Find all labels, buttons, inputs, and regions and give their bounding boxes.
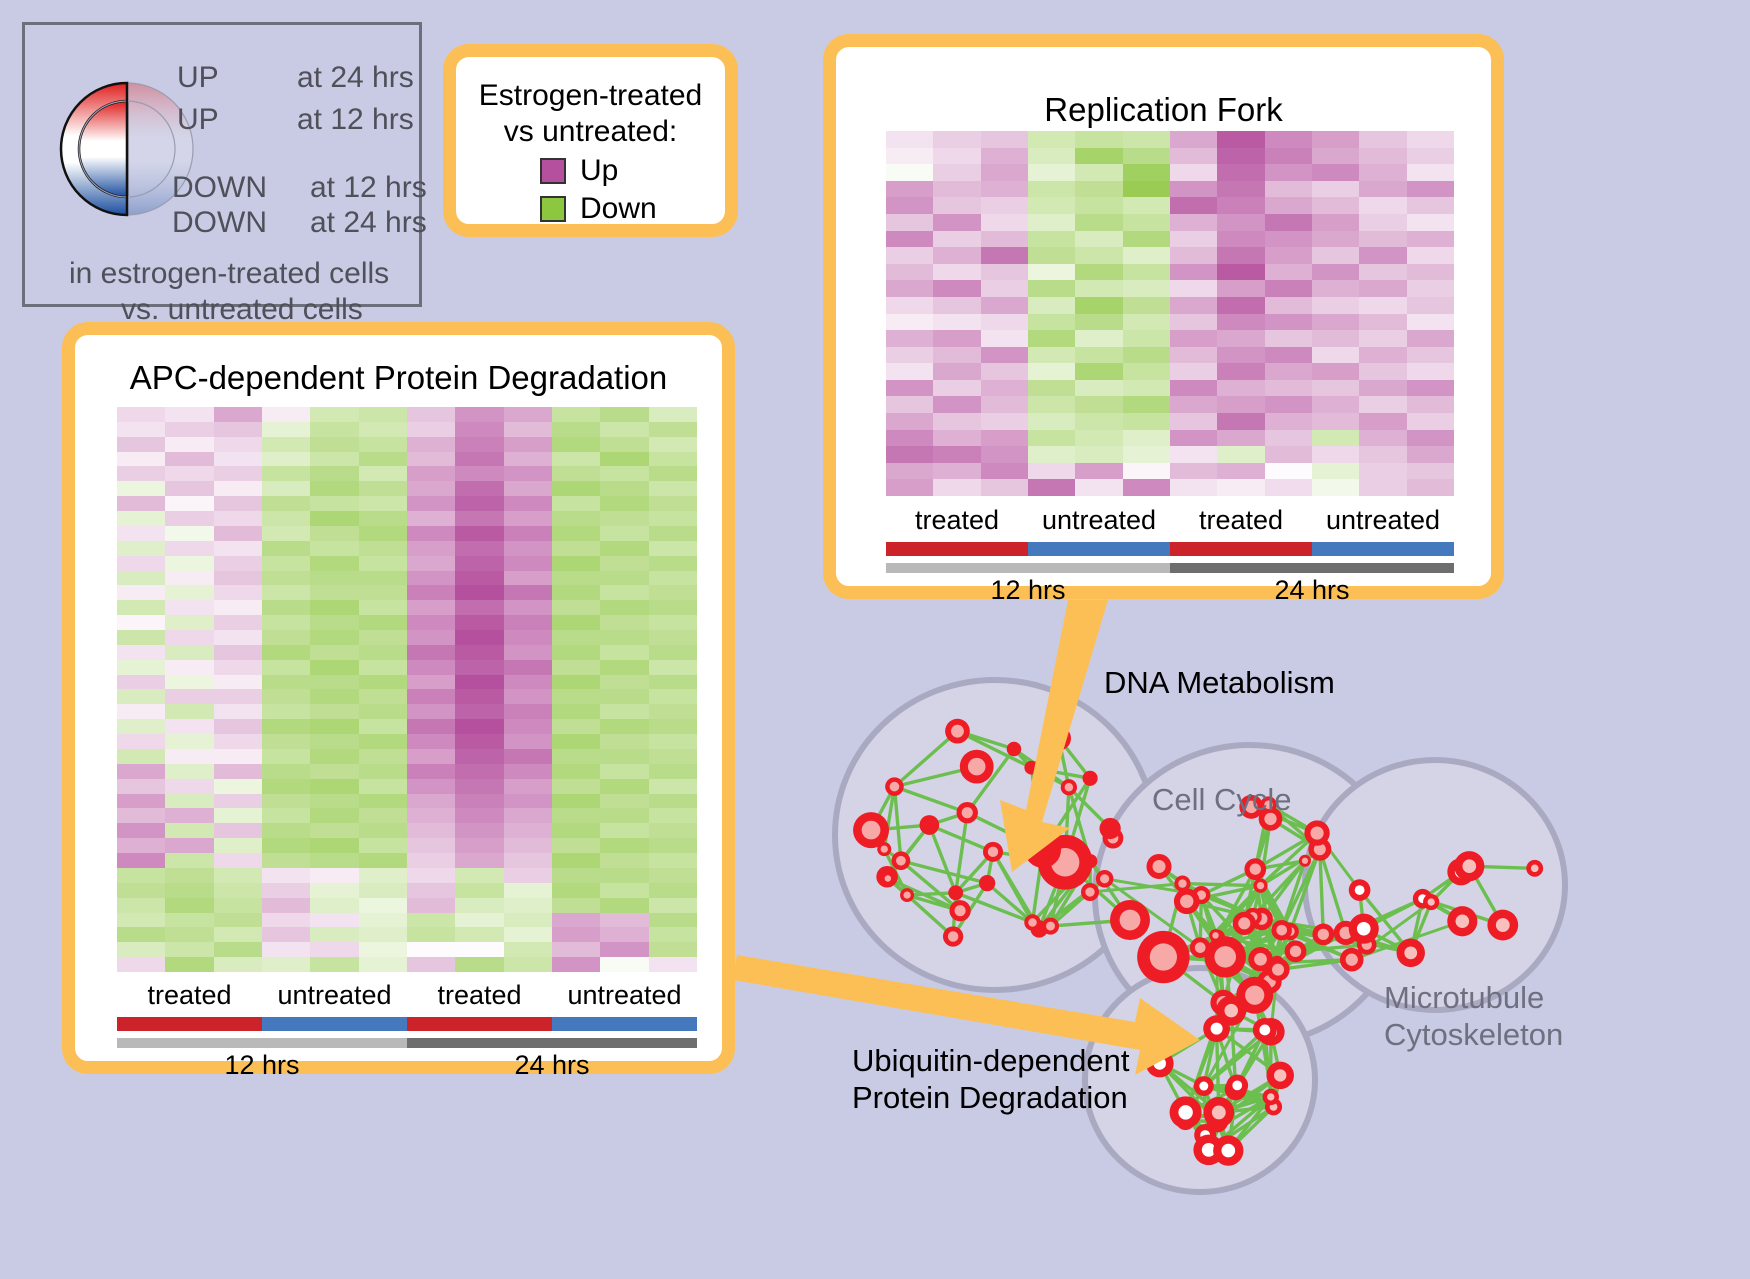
heatmap-cell (262, 749, 310, 764)
heatmap-cell (165, 630, 213, 645)
node-inner-core (968, 758, 986, 776)
rf-col-label: untreated (1028, 505, 1170, 536)
heatmap-cell (359, 749, 407, 764)
heatmap-cell (1359, 446, 1406, 463)
heatmap-cell (649, 794, 697, 809)
heatmap-cell (1217, 264, 1264, 281)
heatmap-cell (165, 808, 213, 823)
heatmap-cell (649, 734, 697, 749)
network-node[interactable] (945, 719, 970, 744)
heatmap-cell (600, 704, 648, 719)
heatmap-cell (455, 556, 503, 571)
network-node[interactable] (1244, 858, 1266, 880)
heatmap-cell (886, 164, 933, 181)
heatmap-cell (214, 407, 262, 422)
node-inner-core (988, 847, 998, 857)
network-node[interactable] (892, 851, 911, 870)
heatmap-cell (310, 779, 358, 794)
label-microtubule: Microtubule (1384, 980, 1544, 1016)
heatmap-cell (1028, 181, 1075, 198)
node-inner-core (1065, 783, 1073, 791)
network-node[interactable] (1253, 879, 1267, 893)
heatmap-cell (649, 615, 697, 630)
heatmap-cell (455, 511, 503, 526)
network-node[interactable] (1526, 860, 1543, 877)
network-node[interactable] (1267, 958, 1290, 981)
node-inner-core (1462, 859, 1476, 873)
time-24-bar-segment (407, 1038, 697, 1048)
heatmap-cell (1123, 347, 1170, 364)
network-node[interactable] (1304, 820, 1329, 845)
untreated-bar-segment (262, 1017, 407, 1031)
heatmap-cell (504, 630, 552, 645)
heatmap-cell (359, 868, 407, 883)
heatmap-cell (1170, 247, 1217, 264)
network-node[interactable] (1046, 726, 1071, 751)
heatmap-cell (455, 719, 503, 734)
heatmap-cell (310, 689, 358, 704)
heatmap-cell (359, 898, 407, 913)
heatmap-cell (117, 452, 165, 467)
heatmap-cell (407, 466, 455, 481)
network-node[interactable] (1024, 914, 1040, 930)
heatmap-cell (1170, 430, 1217, 447)
heatmap-cell (649, 541, 697, 556)
network-node[interactable] (960, 750, 994, 784)
heatmap-cell (214, 541, 262, 556)
node-inner-core (962, 807, 973, 818)
heatmap-cell (455, 571, 503, 586)
heatmap-cell (1028, 413, 1075, 430)
heatmap-cell (117, 764, 165, 779)
heatmap-cell (886, 380, 933, 397)
heatmap-cell (359, 823, 407, 838)
node-inner-core (1211, 1023, 1223, 1035)
heatmap-cell (886, 181, 933, 198)
key-subtitle-line1: in estrogen-treated cells (69, 257, 389, 291)
heatmap-cell (886, 297, 933, 314)
network-node[interactable] (1423, 894, 1439, 910)
heatmap-cell (407, 883, 455, 898)
network-node[interactable] (1110, 900, 1150, 940)
heatmap-cell (649, 675, 697, 690)
heatmap-cell (310, 883, 358, 898)
heatmap-cell (407, 734, 455, 749)
network-node[interactable] (979, 875, 995, 891)
heatmap-cell (600, 452, 648, 467)
heatmap-cell (117, 526, 165, 541)
heatmap-cell (504, 808, 552, 823)
cluster-microtubule (1305, 760, 1565, 1010)
heatmap-cell (310, 511, 358, 526)
heatmap-cell (359, 942, 407, 957)
heatmap-cell (310, 704, 358, 719)
heatmap-cell (1028, 380, 1075, 397)
heatmap-cell (552, 898, 600, 913)
heatmap-cell (600, 913, 648, 928)
heatmap-cell (359, 957, 407, 972)
heatmap-cell (552, 600, 600, 615)
node-inner-core (1100, 874, 1109, 883)
network-node[interactable] (885, 777, 904, 796)
network-node[interactable] (1190, 937, 1211, 958)
heatmap-cell (504, 883, 552, 898)
network-node[interactable] (877, 842, 891, 856)
heatmap-cell (1028, 131, 1075, 148)
network-node[interactable] (1266, 1062, 1294, 1090)
heatmap-cell (933, 197, 980, 214)
network-node[interactable] (900, 888, 914, 902)
network-node[interactable] (1397, 939, 1425, 967)
heatmap-cell (262, 466, 310, 481)
heatmap-cell (262, 764, 310, 779)
replication-fork-panel: Replication Fork treated untreated treat… (823, 34, 1504, 599)
network-node[interactable] (1174, 888, 1200, 914)
heatmap-cell (1123, 231, 1170, 248)
heatmap-cell (1123, 396, 1170, 413)
heatmap-cell (117, 838, 165, 853)
heatmap-cell (117, 853, 165, 868)
heatmap-cell (552, 526, 600, 541)
heatmap-cell (359, 779, 407, 794)
network-node[interactable] (1263, 1089, 1279, 1105)
network-node[interactable] (1312, 923, 1334, 945)
heatmap-cell (504, 407, 552, 422)
heatmap-cell (1028, 446, 1075, 463)
heatmap-cell (552, 675, 600, 690)
node-inner-core (1531, 865, 1539, 873)
node-inner-core (890, 782, 900, 792)
heatmap-cell (1123, 413, 1170, 430)
heatmap-cell (262, 511, 310, 526)
heatmap-cell (933, 297, 980, 314)
heatmap-cell (1123, 197, 1170, 214)
heatmap-cell (455, 689, 503, 704)
heatmap-cell (214, 868, 262, 883)
heatmap-cell (1028, 164, 1075, 181)
heatmap-cell (407, 541, 455, 556)
network-node[interactable] (1349, 914, 1379, 944)
heatmap-cell (455, 526, 503, 541)
heatmap-cell (1359, 347, 1406, 364)
network-node[interactable] (1042, 918, 1059, 935)
heatmap-cell (933, 363, 980, 380)
node-inner-core (1267, 1093, 1274, 1100)
heatmap-cell (504, 571, 552, 586)
heatmap-cell (310, 898, 358, 913)
apc-time-bar (117, 1038, 697, 1048)
network-node[interactable] (1170, 1096, 1202, 1128)
heatmap-cell (359, 675, 407, 690)
network-node[interactable] (1203, 1015, 1230, 1042)
heatmap-cell (262, 689, 310, 704)
heatmap-cell (600, 749, 648, 764)
heatmap-cell (600, 675, 648, 690)
heatmap-cell (214, 466, 262, 481)
heatmap-cell (1123, 463, 1170, 480)
network-node[interactable] (1081, 883, 1099, 901)
up-swatch-icon (540, 158, 566, 184)
network-node[interactable] (957, 802, 978, 823)
heatmap-cell (1075, 479, 1122, 496)
network-node[interactable] (1194, 1076, 1214, 1096)
network-node[interactable] (1083, 854, 1097, 868)
heatmap-cell (552, 957, 600, 972)
network-node[interactable] (1024, 761, 1038, 775)
heatmap-cell (649, 853, 697, 868)
heatmap-cell (359, 437, 407, 452)
heatmap-cell (504, 481, 552, 496)
heatmap-cell (1312, 247, 1359, 264)
heatmap-cell (1407, 430, 1454, 447)
heatmap-cell (1359, 363, 1406, 380)
network-node[interactable] (919, 815, 939, 835)
heatmap-cell (310, 422, 358, 437)
heatmap-cell (117, 868, 165, 883)
heatmap-cell (165, 526, 213, 541)
node-outer-ring (1007, 742, 1022, 757)
network-node[interactable] (1146, 1050, 1174, 1078)
heatmap-cell (165, 675, 213, 690)
heatmap-cell (1217, 363, 1264, 380)
heatmap-cell (552, 452, 600, 467)
heatmap-cell (359, 600, 407, 615)
heatmap-cell (600, 660, 648, 675)
heatmap-cell (165, 794, 213, 809)
heatmap-cell (1028, 197, 1075, 214)
heatmap-cell (552, 779, 600, 794)
heatmap-cell (649, 511, 697, 526)
heatmap-cell (1265, 280, 1312, 297)
heatmap-cell (407, 615, 455, 630)
heatmap-cell (455, 585, 503, 600)
network-node[interactable] (1454, 851, 1484, 881)
heatmap-cell (310, 719, 358, 734)
network-node[interactable] (1349, 879, 1371, 901)
network-node[interactable] (1209, 929, 1221, 941)
heatmap-cell (310, 675, 358, 690)
pathway-network-diagram (790, 620, 1750, 1279)
heatmap-cell (600, 466, 648, 481)
node-inner-core (903, 891, 910, 898)
heatmap-cell (504, 466, 552, 481)
heatmap-cell (1359, 396, 1406, 413)
heatmap-cell (165, 719, 213, 734)
heatmap-cell (600, 927, 648, 942)
heatmap-cell (600, 600, 648, 615)
heatmap-cell (649, 808, 697, 823)
heatmap-cell (1075, 297, 1122, 314)
network-node[interactable] (1285, 940, 1307, 962)
heatmap-cell (552, 942, 600, 957)
apc-degradation-title: APC-dependent Protein Degradation (75, 359, 722, 397)
heatmap-cell (933, 446, 980, 463)
heatmap-cell (359, 422, 407, 437)
node-inner-core (1404, 946, 1417, 959)
heatmap-cell (214, 749, 262, 764)
legend-row-down: Down (540, 192, 657, 226)
heatmap-cell (262, 422, 310, 437)
heatmap-cell (214, 645, 262, 660)
heatmap-cell (504, 496, 552, 511)
heatmap-cell (1075, 197, 1122, 214)
network-node[interactable] (948, 885, 963, 900)
heatmap-cell (649, 407, 697, 422)
heatmap-cell (1359, 430, 1406, 447)
network-node[interactable] (1487, 910, 1518, 941)
network-node[interactable] (1100, 818, 1121, 839)
network-node[interactable] (1146, 854, 1171, 879)
heatmap-cell (310, 466, 358, 481)
heatmap-cell (359, 630, 407, 645)
heatmap-cell (1265, 396, 1312, 413)
heatmap-cell (886, 430, 933, 447)
network-node[interactable] (882, 872, 894, 884)
network-node[interactable] (983, 842, 1003, 862)
node-inner-core (1290, 946, 1301, 957)
heatmap-cell (455, 407, 503, 422)
heatmap-cell (407, 868, 455, 883)
heatmap-cell (1265, 197, 1312, 214)
heatmap-cell (504, 942, 552, 957)
heatmap-cell (1217, 280, 1264, 297)
network-node[interactable] (1007, 742, 1022, 757)
network-node[interactable] (1203, 1097, 1234, 1128)
heatmap-cell (1028, 148, 1075, 165)
heatmap-cell (504, 838, 552, 853)
heatmap-cell (933, 347, 980, 364)
heatmap-cell (359, 660, 407, 675)
network-node[interactable] (1233, 912, 1256, 935)
network-node[interactable] (1340, 948, 1364, 972)
heatmap-cell (407, 779, 455, 794)
heatmap-cell (1170, 214, 1217, 231)
network-node[interactable] (1061, 779, 1077, 795)
heatmap-cell (552, 511, 600, 526)
heatmap-cell (165, 615, 213, 630)
heatmap-cell (649, 868, 697, 883)
heatmap-cell (649, 749, 697, 764)
heatmap-cell (600, 571, 648, 586)
heatmap-cell (359, 496, 407, 511)
network-node[interactable] (1083, 771, 1098, 786)
node-inner-core (1224, 1004, 1238, 1018)
heatmap-cell (552, 437, 600, 452)
heatmap-cell (552, 466, 600, 481)
figure-canvas: UP at 24 hrs UP at 12 hrs DOWN at 12 hrs… (0, 0, 1750, 1279)
heatmap-cell (600, 556, 648, 571)
heatmap-cell (1312, 314, 1359, 331)
heatmap-cell (1217, 131, 1264, 148)
network-node[interactable] (1096, 870, 1114, 888)
heatmap-cell (1407, 363, 1454, 380)
heatmap-cell (310, 437, 358, 452)
heatmap-cell (262, 779, 310, 794)
network-node[interactable] (1447, 906, 1477, 936)
heatmap-cell (552, 823, 600, 838)
heatmap-cell (504, 452, 552, 467)
heatmap-cell (359, 481, 407, 496)
legend-down-label: Down (580, 192, 657, 226)
heatmap-cell (310, 615, 358, 630)
heatmap-cell (1217, 164, 1264, 181)
rf-time-labels: 12 hrs 24 hrs (886, 575, 1454, 606)
heatmap-cell (1359, 197, 1406, 214)
heatmap-cell (1312, 396, 1359, 413)
heatmap-cell (117, 883, 165, 898)
heatmap-cell (1028, 297, 1075, 314)
network-node[interactable] (943, 926, 963, 946)
heatmap-cell (1123, 181, 1170, 198)
heatmap-cell (310, 808, 358, 823)
heatmap-cell (600, 511, 648, 526)
heatmap-cell (117, 496, 165, 511)
rf-column-labels: treated untreated treated untreated (886, 505, 1454, 536)
heatmap-cell (117, 823, 165, 838)
heatmap-cell (407, 942, 455, 957)
key-at-24-label-b: at 24 hrs (310, 206, 427, 240)
network-node[interactable] (1024, 831, 1061, 868)
network-node[interactable] (1271, 920, 1291, 940)
heatmap-cell (310, 600, 358, 615)
heatmap-cell (407, 630, 455, 645)
heatmap-cell (359, 541, 407, 556)
apc-col-label: treated (407, 980, 552, 1011)
apc-col-label: untreated (262, 980, 407, 1011)
heatmap-cell (552, 927, 600, 942)
node-inner-core (1046, 922, 1055, 931)
heatmap-cell (1407, 231, 1454, 248)
heatmap-cell (600, 526, 648, 541)
node-inner-core (1254, 953, 1267, 966)
heatmap-cell (886, 197, 933, 214)
heatmap-cell (886, 231, 933, 248)
heatmap-cell (981, 131, 1028, 148)
network-node[interactable] (1299, 855, 1311, 867)
heatmap-cell (310, 571, 358, 586)
heatmap-cell (504, 526, 552, 541)
heatmap-cell (552, 764, 600, 779)
network-node[interactable] (1253, 1018, 1277, 1042)
heatmap-cell (407, 808, 455, 823)
heatmap-cell (981, 413, 1028, 430)
network-node[interactable] (1204, 936, 1245, 977)
heatmap-cell (262, 898, 310, 913)
network-node[interactable] (1213, 1135, 1243, 1165)
heatmap-cell (1217, 314, 1264, 331)
heatmap-cell (359, 838, 407, 853)
heatmap-cell (1028, 479, 1075, 496)
heatmap-cell (552, 808, 600, 823)
heatmap-cell (262, 630, 310, 645)
heatmap-cell (407, 794, 455, 809)
network-node[interactable] (949, 900, 970, 921)
treated-bar-segment (886, 542, 1028, 556)
rf-col-label: untreated (1312, 505, 1454, 536)
node-inner-core (1195, 942, 1206, 953)
network-node[interactable] (1137, 931, 1189, 983)
heatmap-cell (359, 927, 407, 942)
node-inner-core (1274, 1069, 1286, 1081)
heatmap-cell (214, 898, 262, 913)
heatmap-cell (359, 526, 407, 541)
heatmap-cell (504, 734, 552, 749)
network-node[interactable] (1226, 1075, 1248, 1097)
heatmap-cell (1123, 264, 1170, 281)
heatmap-cell (552, 734, 600, 749)
heatmap-cell (262, 452, 310, 467)
node-inner-core (1178, 1105, 1192, 1119)
